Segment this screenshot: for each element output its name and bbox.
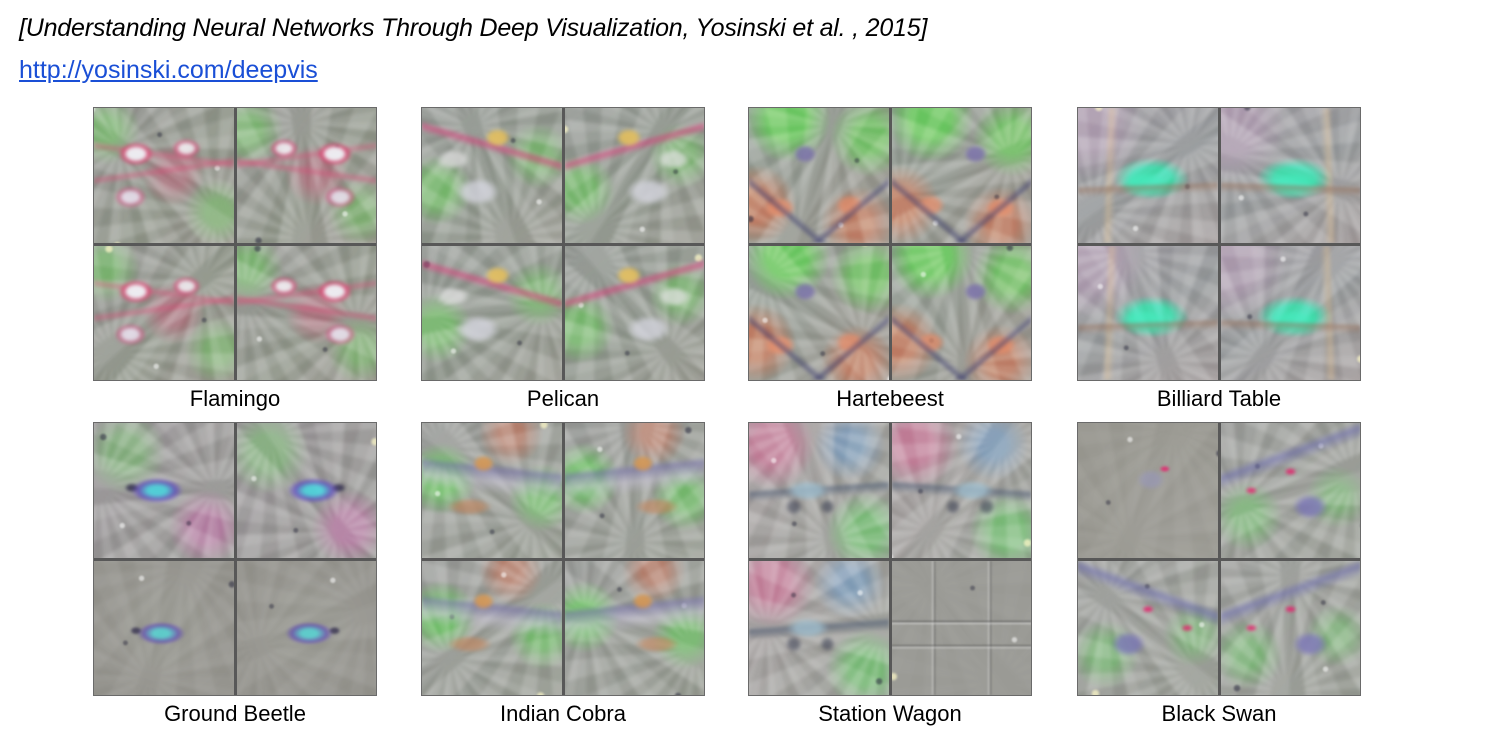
- synthesized-image-tile: [237, 108, 377, 243]
- texture-layer-subject: [565, 423, 705, 558]
- texture-layer-subject: [422, 561, 562, 696]
- synthesized-image-tile: [1078, 561, 1218, 696]
- synthesized-image-tile: [892, 561, 1032, 696]
- synthesized-image-tile: [1221, 108, 1361, 243]
- texture-layer-subject: [237, 108, 377, 243]
- montage-grid: [93, 107, 377, 381]
- texture-layer-subject: [892, 423, 1032, 558]
- texture-layer-subject: [237, 246, 377, 381]
- synthesized-image-tile: [749, 108, 889, 243]
- synthesized-image-tile: [892, 423, 1032, 558]
- montage-grid: [748, 107, 1032, 381]
- visualization-gallery: FlamingoPelicanHartebeestBilliard TableG…: [0, 0, 1493, 756]
- texture-layer-subject: [1221, 423, 1361, 558]
- texture-layer-subject: [1078, 108, 1218, 243]
- synthesized-image-tile: [237, 561, 377, 696]
- synthesized-image-tile: [565, 561, 705, 696]
- synthesized-image-tile: [422, 108, 562, 243]
- synthesized-image-tile: [94, 423, 234, 558]
- group-caption: Hartebeest: [748, 386, 1032, 412]
- texture-layer-subject: [565, 561, 705, 696]
- group-caption: Billiard Table: [1077, 386, 1361, 412]
- texture-layer-subject: [1221, 246, 1361, 381]
- texture-layer-subject: [1078, 423, 1218, 558]
- synthesized-image-tile: [565, 423, 705, 558]
- montage-grid: [421, 422, 705, 696]
- synthesized-image-tile: [749, 423, 889, 558]
- synthesized-image-tile: [749, 246, 889, 381]
- texture-layer-subject: [565, 246, 705, 381]
- texture-layer-subject: [749, 108, 889, 243]
- synthesized-image-tile: [1221, 561, 1361, 696]
- synthesized-image-tile: [422, 423, 562, 558]
- texture-layer-subject: [749, 561, 889, 696]
- synthesized-image-tile: [1078, 423, 1218, 558]
- texture-layer-subject: [749, 246, 889, 381]
- texture-layer-subject: [1078, 246, 1218, 381]
- group-caption: Flamingo: [93, 386, 377, 412]
- synthesized-image-tile: [1078, 108, 1218, 243]
- montage-grid: [421, 107, 705, 381]
- montage-group-flamingo: Flamingo: [93, 107, 377, 412]
- montage-group-pelican: Pelican: [421, 107, 705, 412]
- synthesized-image-tile: [1221, 246, 1361, 381]
- texture-layer-subject: [422, 423, 562, 558]
- synthesized-image-tile: [422, 246, 562, 381]
- texture-layer-subject: [422, 108, 562, 243]
- montage-group-indian-cobra: Indian Cobra: [421, 422, 705, 727]
- texture-layer-subject: [1078, 561, 1218, 696]
- texture-layer-subject: [892, 246, 1032, 381]
- group-caption: Pelican: [421, 386, 705, 412]
- synthesized-image-tile: [237, 423, 377, 558]
- group-caption: Indian Cobra: [421, 701, 705, 727]
- synthesized-image-tile: [892, 108, 1032, 243]
- montage-group-station-wagon: Station Wagon: [748, 422, 1032, 727]
- texture-layer-subject: [237, 561, 377, 696]
- group-caption: Ground Beetle: [93, 701, 377, 727]
- synthesized-image-tile: [565, 246, 705, 381]
- group-caption: Station Wagon: [748, 701, 1032, 727]
- texture-layer-subject: [1221, 108, 1361, 243]
- synthesized-image-tile: [892, 246, 1032, 381]
- synthesized-image-tile: [749, 561, 889, 696]
- group-caption: Black Swan: [1077, 701, 1361, 727]
- montage-grid: [1077, 422, 1361, 696]
- texture-layer-subject: [892, 108, 1032, 243]
- montage-group-black-swan: Black Swan: [1077, 422, 1361, 727]
- synthesized-image-tile: [1078, 246, 1218, 381]
- synthesized-image-tile: [94, 108, 234, 243]
- texture-layer-subject: [1221, 561, 1361, 696]
- texture-layer-subject: [237, 423, 377, 558]
- montage-group-billiard-table: Billiard Table: [1077, 107, 1361, 412]
- synthesized-image-tile: [565, 108, 705, 243]
- synthesized-image-tile: [1221, 423, 1361, 558]
- texture-layer-subject: [94, 423, 234, 558]
- texture-layer-subject: [749, 423, 889, 558]
- texture-layer-subject: [94, 561, 234, 696]
- texture-layer-subject: [422, 246, 562, 381]
- montage-grid: [93, 422, 377, 696]
- texture-layer-subject: [94, 246, 234, 381]
- montage-grid: [748, 422, 1032, 696]
- synthesized-image-tile: [94, 561, 234, 696]
- montage-grid: [1077, 107, 1361, 381]
- synthesized-image-tile: [237, 246, 377, 381]
- synthesized-image-tile: [422, 561, 562, 696]
- texture-layer-subject: [892, 561, 1032, 696]
- texture-layer-subject: [565, 108, 705, 243]
- montage-group-ground-beetle: Ground Beetle: [93, 422, 377, 727]
- texture-layer-subject: [94, 108, 234, 243]
- synthesized-image-tile: [94, 246, 234, 381]
- montage-group-hartebeest: Hartebeest: [748, 107, 1032, 412]
